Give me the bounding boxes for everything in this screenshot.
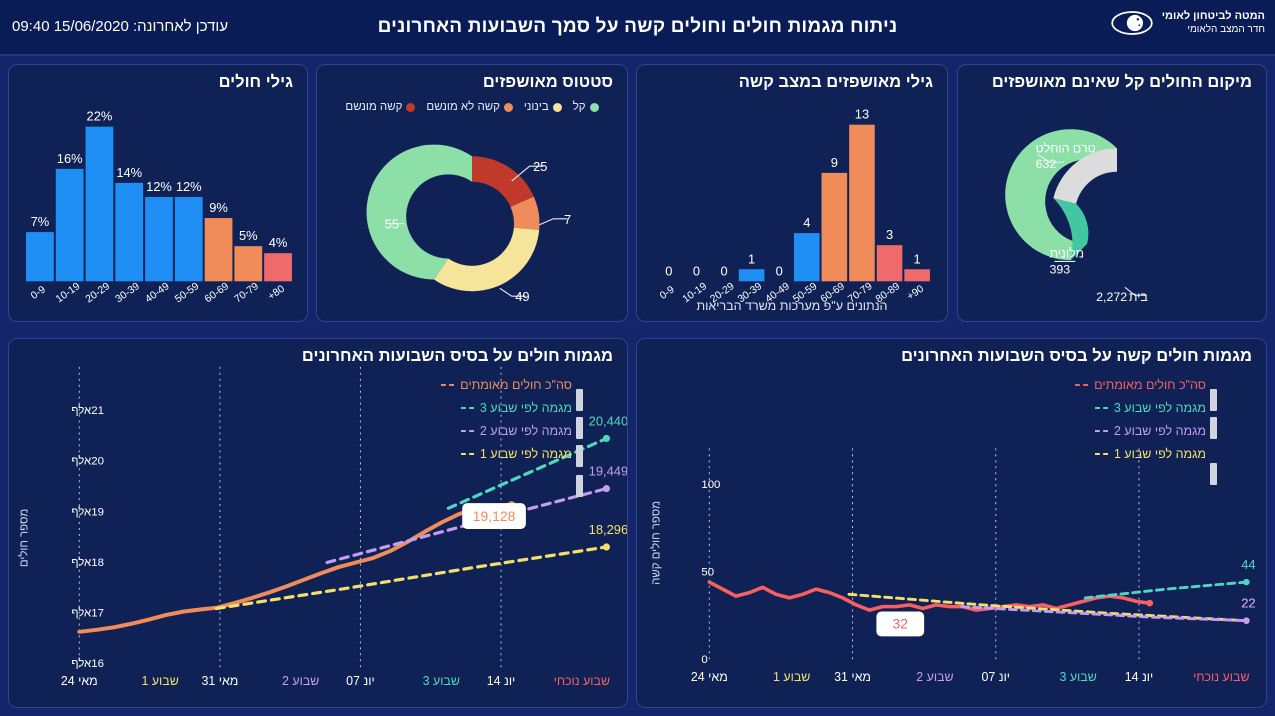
series-endpoint [603, 485, 610, 492]
bar-80-89[interactable] [877, 245, 903, 281]
bar-50-59[interactable] [794, 233, 820, 281]
end-label-מגמה לפי שבוע 3: 20,440 [589, 413, 627, 428]
location-donut-chart: טרם הוחלט 632 מלונית 393 בית 2,272 [958, 65, 1266, 321]
legend-label-trend-week-3: מגמה לפי שבוע 3 [1114, 401, 1206, 415]
panel-trend-severe-cases: מגמות חולים קשה על בסיס השבועות האחרונים… [636, 338, 1267, 708]
value-kashe-lo-munsham: 7 [564, 212, 571, 227]
eye-moon-logo-icon [1110, 8, 1154, 38]
legend-label-trend-week-1-2: מגמה לפי שבוע 1 [480, 447, 572, 461]
data-source-note: הנתונים ע"פ מערכות משרד הבריאות [637, 299, 947, 313]
value-kal: 55 [385, 217, 399, 232]
trend-severe-y-axis: 050100 [701, 479, 720, 666]
bar-30-39[interactable] [115, 183, 143, 281]
value-label-80-89: 3 [886, 227, 893, 242]
value-label-0-9: 7% [31, 214, 50, 229]
y-tick-label: 19אלף [71, 505, 104, 518]
legend-swatch-trend-week-3 [1095, 407, 1108, 409]
legend-swatch-trend-week-1 [1095, 453, 1108, 455]
logo-line-1: המטה לביטחון לאומי [1162, 10, 1265, 24]
x-tick-6: יונ 14 [487, 674, 516, 688]
x-label-20-29: 20-29 [84, 281, 112, 305]
slice-beinoni [434, 228, 539, 292]
y-tick-label: 0 [701, 654, 707, 666]
trend-total-legend: סה"כ חולים מאומתים מגמה לפי שבוע 3 מגמה … [441, 373, 572, 465]
legend-label-total-confirmed-2: סה"כ חולים מאומתים [460, 378, 572, 392]
series-מגמה לפי שבוע 2[interactable] [962, 607, 1247, 621]
trend-severe-gridlines [709, 448, 1139, 663]
end-label-מגמה לפי שבוע 2: 22 [1241, 596, 1255, 611]
legend-label-total-confirmed: סה"כ חולים מאומתים [1094, 378, 1206, 392]
value-label-90+: 1 [914, 251, 921, 266]
x-label-70-79: 70-79 [233, 281, 261, 305]
series-actual[interactable] [79, 505, 511, 632]
legend-row-trend-week-1-2[interactable]: מגמה לפי שבוע 1 [441, 442, 572, 465]
ages-bar-chart: 7%16%22%14%12%12%9%5%4% 0-910-1920-2930-… [9, 65, 307, 321]
value-label-20-29: 0 [720, 263, 727, 278]
x-tick-3: שבוע 2 [916, 670, 953, 684]
label-bait-name: בית [1129, 290, 1148, 304]
value-label-70-79: 5% [239, 228, 258, 243]
status-donut-chart: 25 7 49 55 [317, 65, 627, 321]
trend-total-tooltip-value: 19,128 [473, 508, 516, 524]
y-tick-label: 18אלף [71, 556, 104, 569]
legend-label-trend-week-2: מגמה לפי שבוע 2 [1114, 424, 1206, 438]
x-tick-1: שבוע 1 [773, 670, 810, 684]
y-tick-label: 50 [701, 567, 714, 579]
trend-severe-series [709, 579, 1249, 624]
series-endpoint [1243, 617, 1249, 623]
trend-severe-legend: סה"כ חולים מאומתים מגמה לפי שבוע 3 מגמה … [1075, 373, 1206, 465]
bar-20-29[interactable] [86, 127, 114, 282]
legend-row-trend-week-2[interactable]: מגמה לפי שבוע 2 [1075, 419, 1206, 442]
series-מגמה לפי שבוע 3[interactable] [1085, 582, 1246, 598]
bar-70-79[interactable] [849, 125, 875, 282]
bar-90+[interactable] [904, 269, 930, 281]
bar-10-19[interactable] [56, 169, 84, 281]
label-terem-value: 632 [1036, 157, 1057, 171]
x-tick-0: מאי 24 [61, 674, 98, 688]
trend-total-x-axis: מאי 24שבוע 1מאי 31שבוע 2יונ 07שבוע 3יונ … [61, 674, 610, 688]
value-label-80+: 4% [269, 235, 288, 250]
x-label-10-19: 10-19 [54, 281, 82, 305]
value-label-0-9: 0 [665, 263, 672, 278]
dashboard-root: עודכן לאחרונה: 15/06/2020 09:40 ניתוח מג… [0, 0, 1275, 716]
x-tick-4: יונ 07 [981, 670, 1010, 684]
bar-60-69[interactable] [205, 218, 233, 281]
legend-row-total-confirmed[interactable]: סה"כ חולים מאומתים [1075, 373, 1206, 396]
trend-severe-y-axis-title: מספר חולים קשה [650, 501, 663, 585]
slice-kal [367, 145, 472, 280]
panel-patient-ages: גילי חולים 7%16%22%14%12%12%9%5%4% 0-910… [8, 64, 308, 322]
legend-swatch-trend-week-2 [1095, 430, 1108, 432]
logo-line-2: חדר המצב הלאומי [1162, 24, 1265, 37]
value-label-30-39: 14% [116, 165, 142, 180]
y-tick-label: 16אלף [71, 657, 104, 670]
label-bait-value: 2,272 [1096, 290, 1127, 304]
legend-label-trend-week-3-2: מגמה לפי שבוע 3 [480, 401, 572, 415]
x-tick-6: יונ 14 [1125, 670, 1154, 684]
series-endpoint [603, 435, 610, 442]
organization-logo: המטה לביטחון לאומי חדר המצב הלאומי [1110, 8, 1265, 38]
scroll-handle-g[interactable] [576, 475, 583, 497]
x-label-50-59: 50-59 [173, 281, 201, 305]
y-tick-label: 100 [701, 479, 720, 491]
trend-total-end-labels: 18,29619,44920,440 [589, 413, 627, 537]
trend-total-tooltip: 19,128 [462, 503, 526, 529]
x-label-80+: 80+ [266, 283, 287, 302]
scroll-handle-b[interactable] [1210, 417, 1217, 439]
scroll-handle-f[interactable] [576, 445, 583, 467]
legend-label-trend-week-1: מגמה לפי שבוע 1 [1114, 447, 1206, 461]
scroll-handle-a[interactable] [1210, 389, 1217, 411]
x-tick-3: שבוע 2 [282, 674, 319, 688]
bar-60-69[interactable] [822, 173, 848, 281]
panel-location-of-mild-patients: מיקום החולים קל שאינם מאושפזים טרם הוחלט… [957, 64, 1267, 322]
x-tick-2: מאי 31 [834, 670, 871, 684]
value-beinoni: 49 [515, 289, 529, 304]
series-endpoint [603, 543, 610, 550]
y-tick-label: 17אלף [71, 607, 104, 620]
series-מגמה לפי שבוע 1[interactable] [216, 547, 606, 609]
x-tick-2: מאי 31 [201, 674, 238, 688]
series-actual-endpoint [1146, 600, 1153, 607]
trend-severe-x-axis: מאי 24שבוע 1מאי 31שבוע 2יונ 07שבוע 3יונ … [691, 670, 1250, 684]
label-malonit-name: מלונית [1049, 246, 1084, 260]
severe-age-bar-chart: 00010491331 0-910-1920-2930-3940-4950-59… [637, 65, 947, 321]
end-label-מגמה לפי שבוע 1: 18,296 [589, 522, 627, 537]
end-label-מגמה לפי שבוע 3: 44 [1241, 557, 1255, 572]
value-label-70-79: 13 [855, 107, 869, 122]
scroll-handle-d[interactable] [576, 389, 583, 411]
severe-age-bars [739, 125, 930, 282]
legend-label-trend-week-2-2: מגמה לפי שבוע 2 [480, 424, 572, 438]
bar-70-79[interactable] [234, 246, 262, 281]
value-label-10-19: 16% [57, 151, 83, 166]
scroll-handle-e[interactable] [576, 417, 583, 439]
panel-severe-hospitalized-ages: גילי מאושפזים במצב קשה 00010491331 0-910… [636, 64, 948, 322]
app-header: עודכן לאחרונה: 15/06/2020 09:40 ניתוח מג… [0, 0, 1275, 56]
trend-severe-tooltip: 32 [876, 612, 924, 637]
value-label-40-49: 12% [146, 179, 172, 194]
value-label-50-59: 12% [176, 179, 202, 194]
value-label-40-49: 0 [776, 263, 783, 278]
x-tick-4: יונ 07 [346, 674, 375, 688]
ages-bars [26, 127, 292, 282]
value-label-60-69: 9% [209, 200, 228, 215]
logo-text: המטה לביטחון לאומי חדר המצב הלאומי [1162, 10, 1265, 36]
y-tick-label: 20אלף [71, 455, 104, 468]
value-label-60-69: 9 [831, 155, 838, 170]
value-label-10-19: 0 [693, 263, 700, 278]
legend-row-trend-week-3-2[interactable]: מגמה לפי שבוע 3 [441, 396, 572, 419]
legend-row-trend-week-1[interactable]: מגמה לפי שבוע 1 [1075, 442, 1206, 465]
series-endpoint [1243, 579, 1249, 585]
bar-40-49[interactable] [145, 197, 173, 281]
legend-swatch-trend-week-1-2 [461, 453, 474, 455]
trend-severe-tooltip-value: 32 [893, 615, 909, 631]
ages-x-labels: 0-910-1920-2930-3940-4950-5960-6970-7980… [29, 281, 287, 305]
label-terem-name: טרם הוחלט [1036, 141, 1096, 155]
bar-80+[interactable] [264, 253, 292, 281]
x-label-60-69: 60-69 [203, 281, 231, 305]
x-label-30-39: 30-39 [114, 281, 142, 305]
bar-0-9[interactable] [26, 232, 54, 281]
panel-hospitalized-status: סטטוס מאושפזים קל בינוני קשה לא מונשם קש… [316, 64, 628, 322]
legend-row-trend-week-3[interactable]: מגמה לפי שבוע 3 [1075, 396, 1206, 419]
series-actual[interactable] [709, 582, 1149, 610]
x-label-0-9: 0-9 [29, 284, 48, 302]
x-tick-7: שבוע נוכחי [1193, 670, 1249, 684]
legend-row-total-confirmed-2[interactable]: סה"כ חולים מאומתים [441, 373, 572, 396]
x-label-40-49: 40-49 [143, 281, 171, 305]
value-label-50-59: 4 [803, 215, 810, 230]
page-title: ניתוח מגמות חולים וחולים קשה על סמך השבו… [0, 16, 1275, 38]
bar-50-59[interactable] [175, 197, 203, 281]
x-tick-1: שבוע 1 [141, 674, 178, 688]
legend-swatch-total-confirmed [1075, 384, 1088, 386]
value-label-30-39: 1 [748, 251, 755, 266]
x-tick-7: שבוע נוכחי [554, 674, 610, 688]
panel-trend-total-cases: מגמות חולים על בסיס השבועות האחרונים 16א… [8, 338, 628, 708]
trend-total-y-axis-title: מספר חולים [18, 509, 31, 568]
bar-30-39[interactable] [739, 269, 765, 281]
slice-kashe-munsham [472, 156, 534, 207]
end-label-מגמה לפי שבוע 2: 19,449 [589, 464, 627, 479]
value-kashe-munsham: 25 [533, 159, 547, 174]
legend-row-trend-week-2-2[interactable]: מגמה לפי שבוע 2 [441, 419, 572, 442]
y-tick-label: 21אלף [71, 404, 104, 417]
scroll-handle-c[interactable] [1210, 463, 1217, 485]
x-tick-0: מאי 24 [691, 670, 728, 684]
x-tick-5: שבוע 3 [423, 674, 460, 688]
x-tick-5: שבוע 3 [1059, 670, 1096, 684]
label-malonit-value: 393 [1049, 262, 1070, 276]
value-label-20-29: 22% [87, 109, 113, 124]
legend-swatch-total-confirmed-2 [441, 384, 454, 386]
legend-swatch-trend-week-2-2 [461, 430, 474, 432]
legend-swatch-trend-week-3-2 [461, 407, 474, 409]
